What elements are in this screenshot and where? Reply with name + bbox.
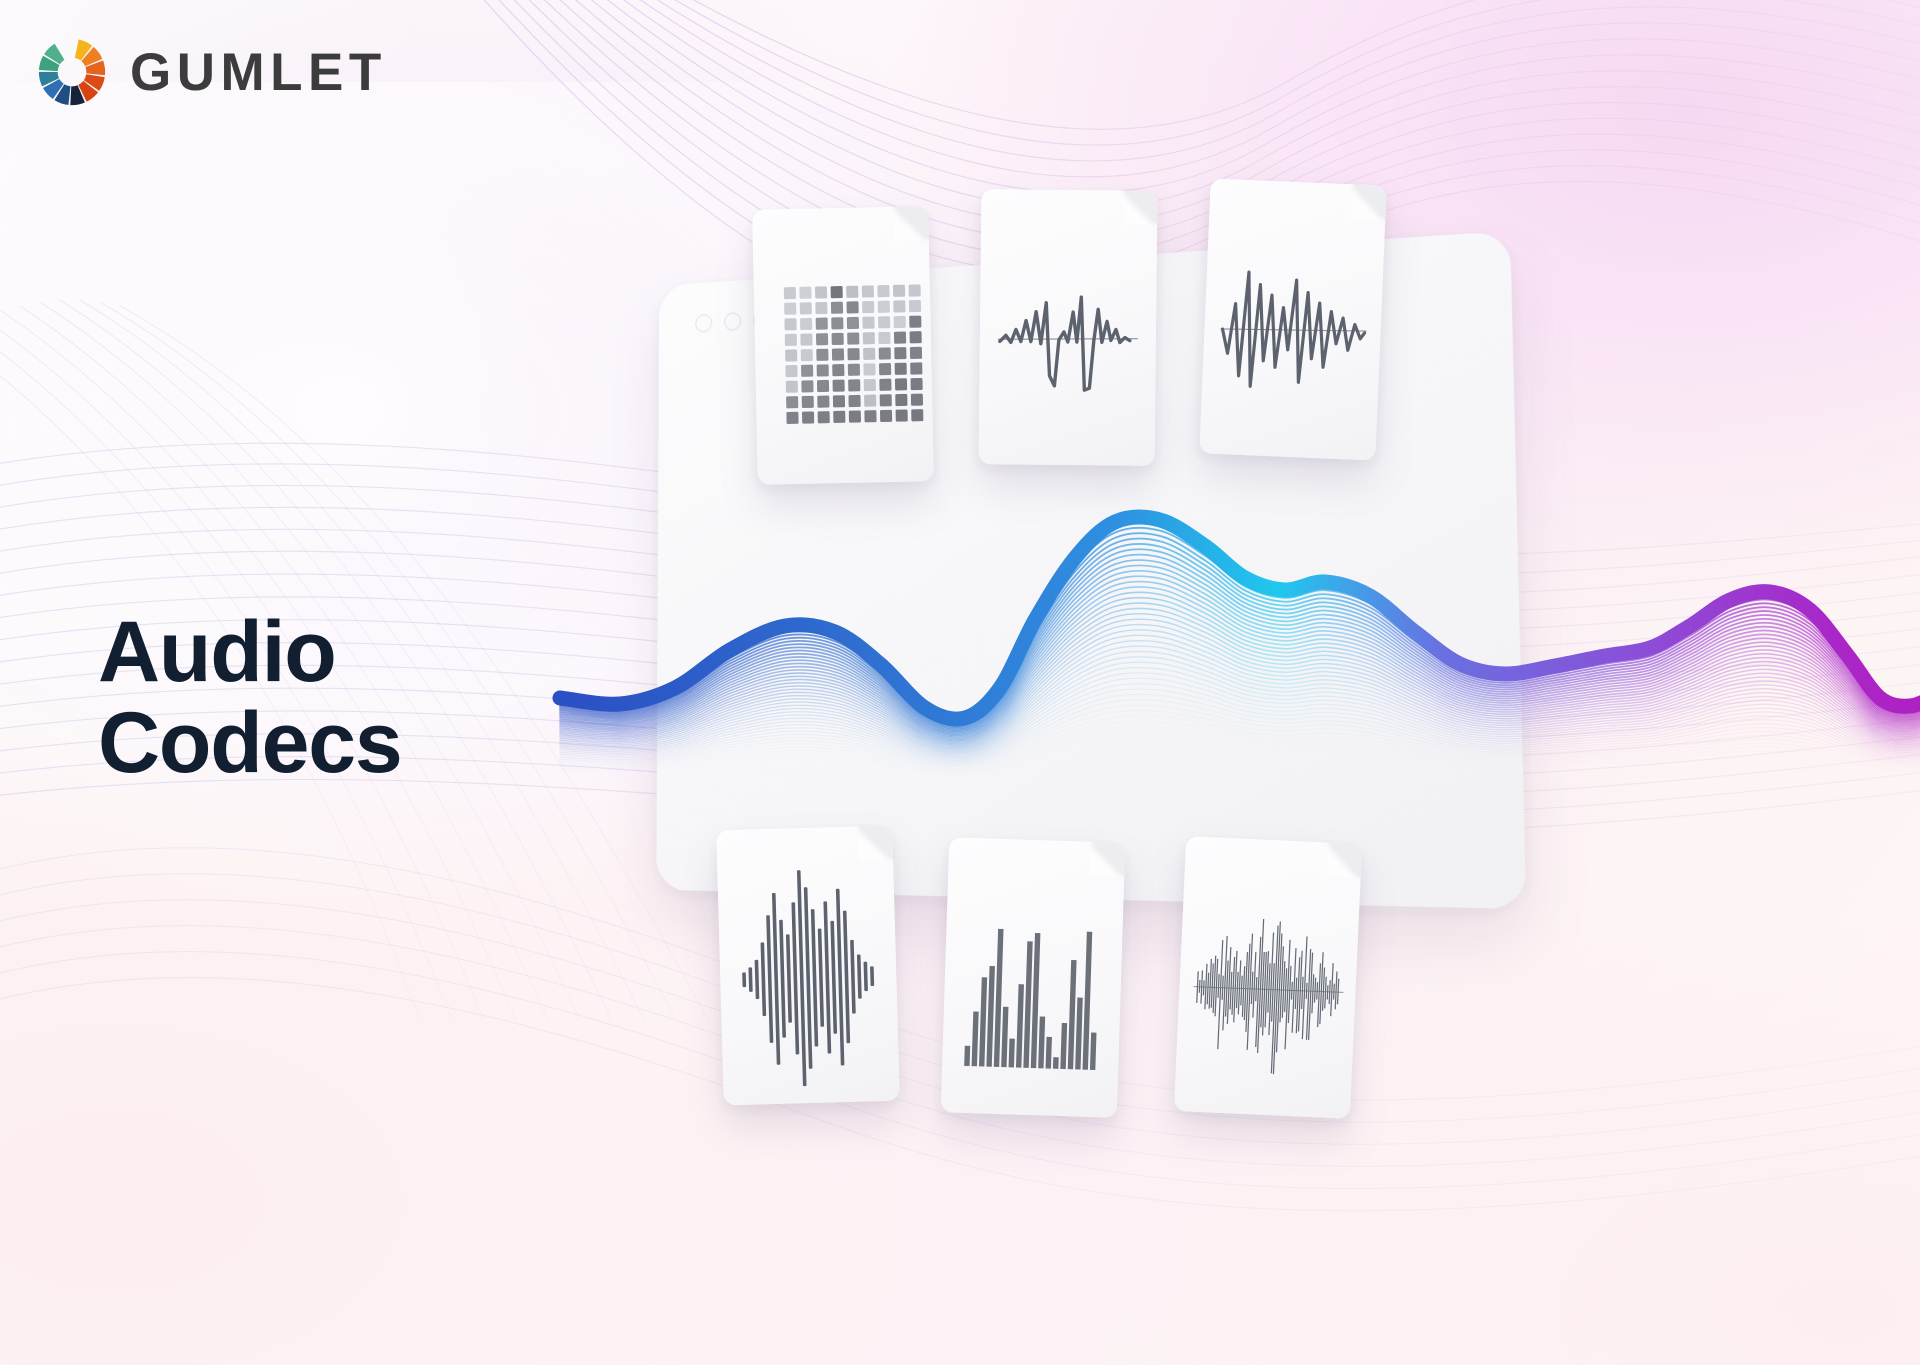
spectrogram-cell <box>910 347 922 359</box>
spectrogram-cell <box>800 302 812 314</box>
symmetric-bar <box>755 960 760 999</box>
chart-bar <box>1090 1032 1097 1070</box>
bar-chart-icon <box>941 837 1126 1117</box>
spectrogram-cell <box>800 318 812 330</box>
spectrogram-cell <box>879 379 891 391</box>
noise-line <box>1320 952 1323 1024</box>
spectrogram-cell <box>832 333 844 345</box>
spectrogram-cell <box>896 409 908 421</box>
spectrogram-cell <box>911 409 923 421</box>
spectrogram-cell <box>849 410 861 422</box>
noise-line <box>1246 944 1250 1032</box>
spectrogram-cell <box>801 365 813 377</box>
symmetric-bar <box>843 911 850 1044</box>
noise-line <box>1203 980 1204 995</box>
spectrogram-cell <box>785 334 797 346</box>
spectrogram-cell <box>862 285 874 297</box>
card-waveform-sharp[interactable] <box>1199 178 1386 460</box>
page-title: Audio Codecs <box>98 607 401 789</box>
spectrogram-cell <box>799 287 811 299</box>
symmetric-bar <box>857 954 862 998</box>
noise-line <box>1227 947 1230 1024</box>
symmetric-bar <box>791 902 799 1054</box>
spectrogram-cell <box>833 395 845 407</box>
spectrogram-cell <box>846 301 858 313</box>
card-bar-chart[interactable] <box>941 837 1126 1117</box>
spectrogram-grid-icon <box>752 206 934 485</box>
spectrogram-cell <box>894 347 906 359</box>
spectrogram-cell <box>848 364 860 376</box>
symmetric-bar <box>779 920 786 1038</box>
spectrogram-cell <box>784 287 796 299</box>
spectrogram-cell <box>910 378 922 390</box>
spectrogram-cell <box>864 410 876 422</box>
symmetric-bar <box>811 909 818 1047</box>
spectrogram-cell <box>832 364 844 376</box>
chart-bar <box>1009 1039 1015 1068</box>
spectrogram-cell <box>801 349 813 361</box>
spectrogram-cell <box>817 364 829 376</box>
symmetric-bar <box>786 934 792 1022</box>
window-dot-2-icon <box>724 312 741 331</box>
spectrogram-cell <box>847 317 859 329</box>
spectrogram-cell <box>785 365 797 377</box>
noise-line <box>1201 970 1203 1003</box>
noise-line <box>1331 963 1333 1016</box>
chart-bar <box>1023 941 1032 1068</box>
noise-line <box>1230 972 1232 1010</box>
page-title-line-1: Audio <box>98 607 401 698</box>
spectrogram-cell <box>832 348 844 360</box>
spectrogram-cell <box>894 331 906 343</box>
symmetric-bar <box>850 940 856 1014</box>
symmetric-bar <box>748 967 752 992</box>
spectrogram-cell <box>863 332 875 344</box>
symmetric-bar <box>830 921 837 1034</box>
chart-bar <box>1038 1016 1045 1068</box>
noise-line <box>1334 984 1335 1000</box>
spectrogram-cell <box>909 284 921 296</box>
spectrogram-cell <box>833 411 845 423</box>
spectrogram-cell <box>878 332 890 344</box>
spectrogram-cell <box>786 412 798 424</box>
noise-line <box>1222 976 1223 1000</box>
spectrogram-cell <box>831 302 843 314</box>
spectrogram-cell <box>784 303 796 315</box>
noise-line <box>1317 982 1318 999</box>
spectrogram-cell <box>801 380 813 392</box>
spectrogram-cell <box>831 317 843 329</box>
noise-line <box>1207 973 1208 1004</box>
spectrogram-cell <box>848 379 860 391</box>
spectrogram-cell <box>910 331 922 343</box>
chart-bar <box>1068 960 1077 1069</box>
spectrogram-cell <box>911 394 923 406</box>
wave-strand <box>560 716 1920 769</box>
card-noise-waveform[interactable] <box>1174 836 1362 1119</box>
noise-line <box>1323 968 1325 1011</box>
spectrogram-cell <box>909 316 921 328</box>
sharp-waveform-icon <box>1199 178 1386 460</box>
window-dot-1-icon <box>695 314 712 333</box>
spectrogram-cell <box>880 410 892 422</box>
spectrogram-cell <box>879 363 891 375</box>
spectrogram-cell <box>878 316 890 328</box>
chart-bar <box>1016 984 1024 1068</box>
noise-line <box>1253 952 1256 1018</box>
noise-line <box>1315 978 1316 1003</box>
noise-line <box>1327 985 1328 999</box>
card-spectrogram[interactable] <box>752 206 934 485</box>
noise-line <box>1312 974 1314 1013</box>
spectrogram-cell <box>864 395 876 407</box>
spectrogram-cell <box>880 394 892 406</box>
noise-line <box>1302 977 1303 1009</box>
chart-bar <box>1001 1007 1008 1068</box>
spectrogram-cell <box>847 348 859 360</box>
spectrogram-cell <box>862 317 874 329</box>
page-title-line-2: Codecs <box>98 698 401 789</box>
noise-line <box>1256 977 1257 1001</box>
spectrogram-cell <box>893 285 905 297</box>
smooth-waveform-icon <box>979 189 1158 466</box>
noise-line <box>1197 971 1198 1003</box>
spectrogram-cell <box>785 349 797 361</box>
spectrogram-cell <box>846 286 858 298</box>
spectrogram-cell <box>847 332 859 344</box>
noise-line <box>1329 980 1330 1004</box>
spectrogram-cell <box>786 396 798 408</box>
noise-line <box>1236 972 1238 1008</box>
dense-noise-waveform-icon <box>1174 836 1362 1119</box>
brand-wordmark: GUMLET <box>130 46 387 99</box>
symmetric-bar <box>766 915 773 1043</box>
spectrogram-cell <box>802 411 814 423</box>
spectrogram-cell <box>895 363 907 375</box>
chart-bar <box>1075 998 1083 1070</box>
illustration-scene <box>600 150 1920 1210</box>
chart-bar <box>1060 1023 1067 1069</box>
noise-line <box>1292 982 1293 1000</box>
card-waveform-smooth[interactable] <box>979 189 1158 466</box>
spectrogram-cell <box>833 380 845 392</box>
spectrogram-cell <box>802 396 814 408</box>
noise-line <box>1325 977 1326 1009</box>
spectrogram-cell <box>910 362 922 374</box>
spectrogram-cell <box>862 301 874 313</box>
noise-line <box>1338 979 1339 1004</box>
chart-bar <box>986 966 995 1067</box>
noise-line <box>1306 983 1307 999</box>
symmetric-bar <box>864 962 868 992</box>
noise-line <box>1211 963 1213 1007</box>
noise-line <box>1309 953 1313 1040</box>
spectrogram-cell <box>895 394 907 406</box>
spectrogram-cell <box>817 380 829 392</box>
spectrogram-cell <box>848 395 860 407</box>
noise-line <box>1251 972 1252 1004</box>
noise-line <box>1295 978 1296 1009</box>
brand-logo[interactable]: GUMLET <box>36 36 387 108</box>
noise-line <box>1199 980 1200 993</box>
spectrogram-cell <box>815 286 827 298</box>
spectrogram-cell <box>815 302 827 314</box>
spectrogram-cell <box>817 395 829 407</box>
spectrogram-cell <box>818 411 830 423</box>
spectrogram-cell <box>816 333 828 345</box>
spectrogram-cell <box>877 285 889 297</box>
spectrogram-cell <box>878 301 890 313</box>
spectrogram-cell <box>784 318 796 330</box>
spectrogram-cell <box>864 379 876 391</box>
noise-line <box>1335 971 1337 1009</box>
gumlet-color-wheel-icon <box>36 36 108 108</box>
spectrogram-cell <box>879 347 891 359</box>
symmetric-bar <box>761 942 767 1016</box>
spectrogram-cell <box>895 378 907 390</box>
chart-bar <box>979 977 987 1066</box>
spectrogram-cell <box>894 316 906 328</box>
symmetric-bar <box>742 972 746 987</box>
audio-gradient-wave <box>580 450 1920 870</box>
symmetric-bar <box>818 929 824 1027</box>
symmetric-bar <box>823 901 831 1053</box>
spectrogram-cell <box>863 363 875 375</box>
chart-bar <box>972 1012 979 1067</box>
noise-line <box>1238 960 1240 1014</box>
spectrogram-cell <box>831 286 843 298</box>
noise-line <box>1218 974 1219 998</box>
spectrogram-cell <box>800 333 812 345</box>
noise-line <box>1307 949 1311 1040</box>
spectrogram-cell <box>786 381 798 393</box>
symmetric-bar <box>870 966 874 986</box>
noise-line <box>1205 964 1207 1010</box>
spectrogram-cell <box>893 300 905 312</box>
noise-line <box>1241 976 1242 1006</box>
spectrogram-cell <box>816 318 828 330</box>
chart-bar <box>964 1046 970 1066</box>
chart-bar <box>1053 1057 1059 1069</box>
spectrogram-cell <box>863 348 875 360</box>
spectrogram-cell <box>816 349 828 361</box>
spectrogram-cell <box>909 300 921 312</box>
chart-bar <box>1046 1037 1052 1069</box>
